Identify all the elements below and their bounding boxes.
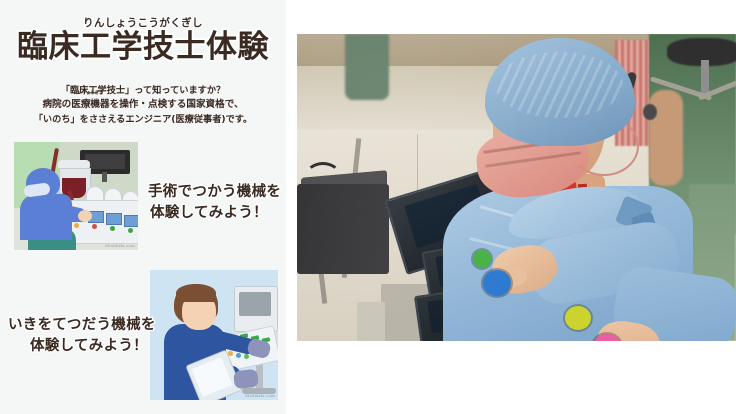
caption-ventilator-line-2: 体験してみよう！	[8, 336, 156, 357]
photo-light-glare	[297, 34, 736, 341]
heart-lung-machine-illustration: Medikiki.com	[14, 142, 138, 250]
ceiling-monitor-screen	[85, 154, 125, 169]
indicator-dot-green-2	[128, 228, 133, 233]
lead-line-2: 病院のいりょうきき医療機器を操作・点検する国家資格で、	[0, 98, 286, 113]
left-info-panel: りんしょうこうがくぎし 臨床工学技士体験 「臨床工学技士」って知っていますか？ …	[0, 0, 286, 414]
lead-ruby-base: 医療機器	[71, 99, 109, 110]
ventilator-dot-blue	[236, 353, 241, 358]
lead-ruby: いりょうきき	[71, 92, 109, 96]
pump-screen-3	[106, 213, 122, 225]
caption-surgery-line-1: 手術でつかう機械を	[148, 184, 281, 200]
lead-line-3: 「いのち」をささえるエンジニア(医療従事者)です。	[0, 113, 286, 127]
indicator-dot-orange	[74, 223, 79, 228]
pump-screen-4	[124, 215, 138, 227]
caption-ventilator: いきをてつだう機械を 体験してみよう！	[8, 315, 156, 356]
clinician-glove-lower	[233, 369, 259, 389]
title-block: りんしょうこうがくぎし 臨床工学技士体験	[0, 18, 286, 63]
clinician-hand	[78, 210, 92, 222]
caption-surgery-line-2: 体験してみよう！	[148, 203, 281, 224]
illustration-watermark: Medikiki.com	[245, 393, 275, 398]
ventilator-dot-green	[244, 354, 249, 359]
ventilator-monitor-screen	[239, 292, 271, 316]
indicator-dot-green-1	[110, 226, 115, 231]
title-ruby: りんしょうこうがくぎし	[0, 18, 286, 29]
caption-ventilator-line-1: いきをてつだう機械を	[8, 317, 156, 333]
indicator-dot-red	[92, 224, 97, 229]
monitor-arm	[102, 172, 107, 182]
illustration-watermark: Medikiki.com	[105, 243, 135, 248]
lead-line-1: 「臨床工学技士」って知っていますか？	[0, 84, 286, 98]
page-title: 臨床工学技士体験	[0, 31, 286, 64]
lead-ruby-wrapper: いりょうきき医療機器	[71, 98, 109, 113]
child-operating-medical-equipment-photo	[297, 34, 736, 341]
lead-line-2-text: 病院のいりょうきき医療機器を操作・点検する国家資格で、	[42, 99, 243, 110]
caption-surgery: 手術でつかう機械を 体験してみよう！	[148, 182, 281, 223]
ventilator-illustration: Medikiki.com	[150, 270, 278, 400]
clinician-fringe	[176, 284, 216, 302]
lead-paragraph: 「臨床工学技士」って知っていますか？ 病院のいりょうきき医療機器を操作・点検する…	[0, 84, 286, 127]
slide-canvas: りんしょうこうがくぎし 臨床工学技士体験 「臨床工学技士」って知っていますか？ …	[0, 0, 736, 414]
